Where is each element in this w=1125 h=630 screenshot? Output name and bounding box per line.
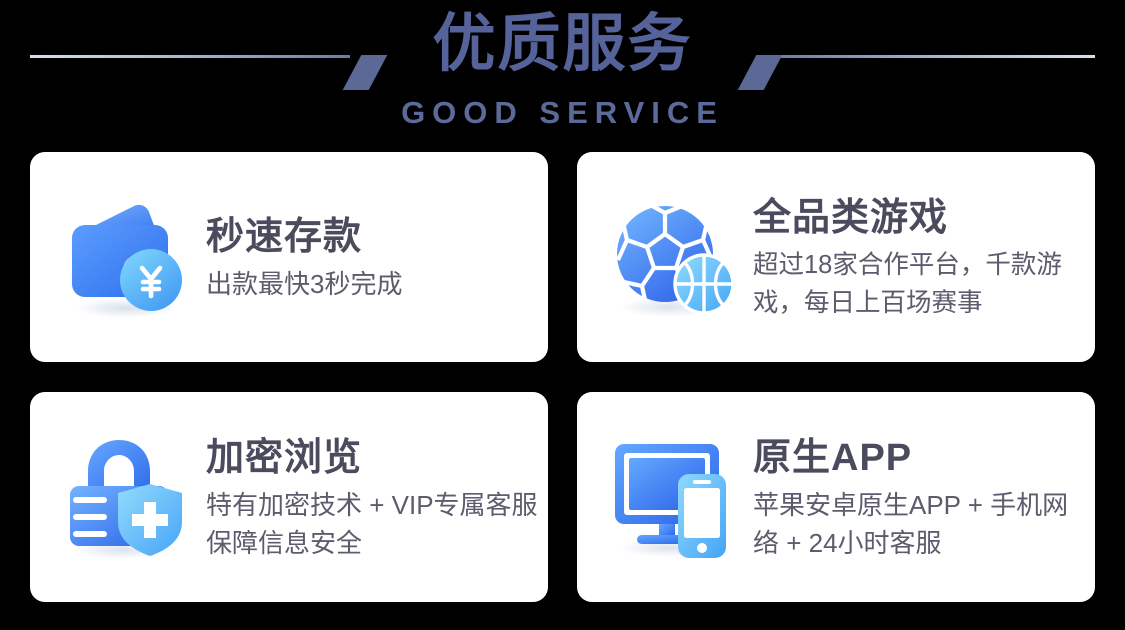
feature-card-native-app[interactable]: 原生APP 苹果安卓原生APP + 手机网络 + 24小时客服 [577, 392, 1095, 602]
soccer-basketball-icon [607, 190, 739, 325]
feature-card-encryption[interactable]: 加密浏览 特有加密技术 + VIP专属客服保障信息安全 [30, 392, 548, 602]
card-text-block: 秒速存款 出款最快3秒完成 [206, 211, 542, 303]
monitor-phone-icon [607, 430, 739, 565]
card-description: 特有加密技术 + VIP专属客服保障信息安全 [206, 486, 542, 562]
wallet-icon [60, 190, 192, 325]
card-text-block: 原生APP 苹果安卓原生APP + 手机网络 + 24小时客服 [753, 432, 1089, 562]
page-subtitle: GOOD SERVICE [0, 94, 1125, 132]
card-title: 秒速存款 [206, 213, 542, 261]
card-text-block: 加密浏览 特有加密技术 + VIP专属客服保障信息安全 [206, 432, 542, 562]
card-title: 全品类游戏 [753, 194, 1089, 242]
card-title: 原生APP [753, 434, 1089, 482]
feature-card-grid: 秒速存款 出款最快3秒完成 [30, 152, 1095, 602]
feature-card-deposit[interactable]: 秒速存款 出款最快3秒完成 [30, 152, 548, 362]
card-description: 出款最快3秒完成 [206, 265, 542, 303]
card-description: 超过18家合作平台，千款游戏，每日上百场赛事 [753, 246, 1089, 322]
card-text-block: 全品类游戏 超过18家合作平台，千款游戏，每日上百场赛事 [753, 192, 1089, 322]
page-header: 优质服务 GOOD SERVICE [0, 0, 1125, 148]
page-title: 优质服务 [0, 6, 1125, 82]
feature-card-games[interactable]: 全品类游戏 超过18家合作平台，千款游戏，每日上百场赛事 [577, 152, 1095, 362]
card-description: 苹果安卓原生APP + 手机网络 + 24小时客服 [753, 486, 1089, 562]
lock-shield-icon [60, 430, 192, 565]
card-title: 加密浏览 [206, 434, 542, 482]
